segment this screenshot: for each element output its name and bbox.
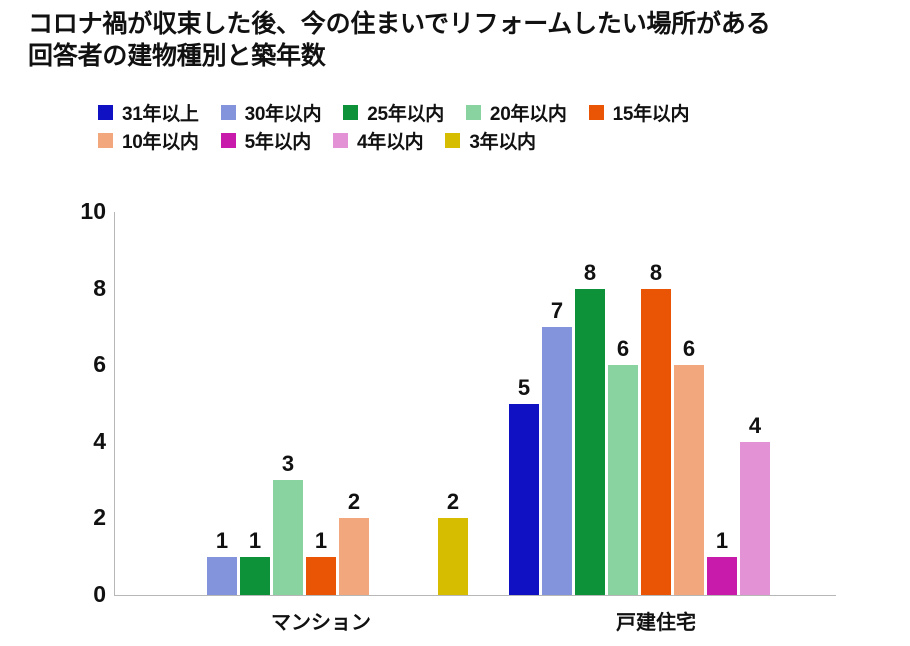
bar-戸建住宅-15年以内[interactable]: 8 <box>641 289 671 595</box>
bar-value-label: 8 <box>632 262 680 284</box>
bar-value-label: 6 <box>665 338 713 360</box>
bars-layer: 11312257868614 <box>114 212 836 595</box>
y-axis-tick-6: 6 <box>58 353 106 376</box>
bar-value-label: 5 <box>500 377 548 399</box>
bar-rect <box>674 365 704 595</box>
bar-戸建住宅-5年以内[interactable]: 1 <box>707 557 737 595</box>
bar-rect <box>509 404 539 596</box>
bar-戸建住宅-20年以内[interactable]: 6 <box>608 365 638 595</box>
bar-戸建住宅-31年以上[interactable]: 5 <box>509 404 539 596</box>
bar-value-label: 1 <box>231 530 279 552</box>
bar-rect <box>306 557 336 595</box>
bar-rect <box>240 557 270 595</box>
bar-value-label: 1 <box>698 530 746 552</box>
y-axis-tick-4: 4 <box>58 430 106 453</box>
bar-rect <box>339 518 369 595</box>
bar-value-label: 7 <box>533 300 581 322</box>
bar-戸建住宅-4年以内[interactable]: 4 <box>740 442 770 595</box>
x-axis-label-戸建住宅: 戸建住宅 <box>566 606 746 635</box>
bar-value-label: 4 <box>731 415 779 437</box>
bar-マンション-30年以内[interactable]: 1 <box>207 557 237 595</box>
bar-value-label: 2 <box>330 491 378 513</box>
bar-マンション-15年以内[interactable]: 1 <box>306 557 336 595</box>
bar-value-label: 1 <box>297 530 345 552</box>
bar-戸建住宅-10年以内[interactable]: 6 <box>674 365 704 595</box>
bar-rect <box>608 365 638 595</box>
bar-rect <box>542 327 572 595</box>
y-axis-tick-10: 10 <box>58 200 106 223</box>
bar-rect <box>707 557 737 595</box>
bar-rect <box>740 442 770 595</box>
bar-value-label: 6 <box>599 338 647 360</box>
y-axis-tick-8: 8 <box>58 277 106 300</box>
bar-rect <box>575 289 605 595</box>
bar-マンション-10年以内[interactable]: 2 <box>339 518 369 595</box>
bar-戸建住宅-25年以内[interactable]: 8 <box>575 289 605 595</box>
bar-value-label: 3 <box>264 453 312 475</box>
bar-戸建住宅-30年以内[interactable]: 7 <box>542 327 572 595</box>
bar-value-label: 2 <box>429 491 477 513</box>
bar-rect <box>438 518 468 595</box>
bar-マンション-3年以内[interactable]: 2 <box>438 518 468 595</box>
x-axis-label-マンション: マンション <box>231 606 411 635</box>
y-axis-tick-2: 2 <box>58 506 106 529</box>
bar-value-label: 8 <box>566 262 614 284</box>
bar-マンション-25年以内[interactable]: 1 <box>240 557 270 595</box>
bar-rect <box>641 289 671 595</box>
bar-rect <box>207 557 237 595</box>
x-axis-line <box>114 595 836 596</box>
y-axis-tick-0: 0 <box>58 583 106 606</box>
chart-plot-area: 1086420 11312257868614 マンション戸建住宅 <box>0 0 910 646</box>
